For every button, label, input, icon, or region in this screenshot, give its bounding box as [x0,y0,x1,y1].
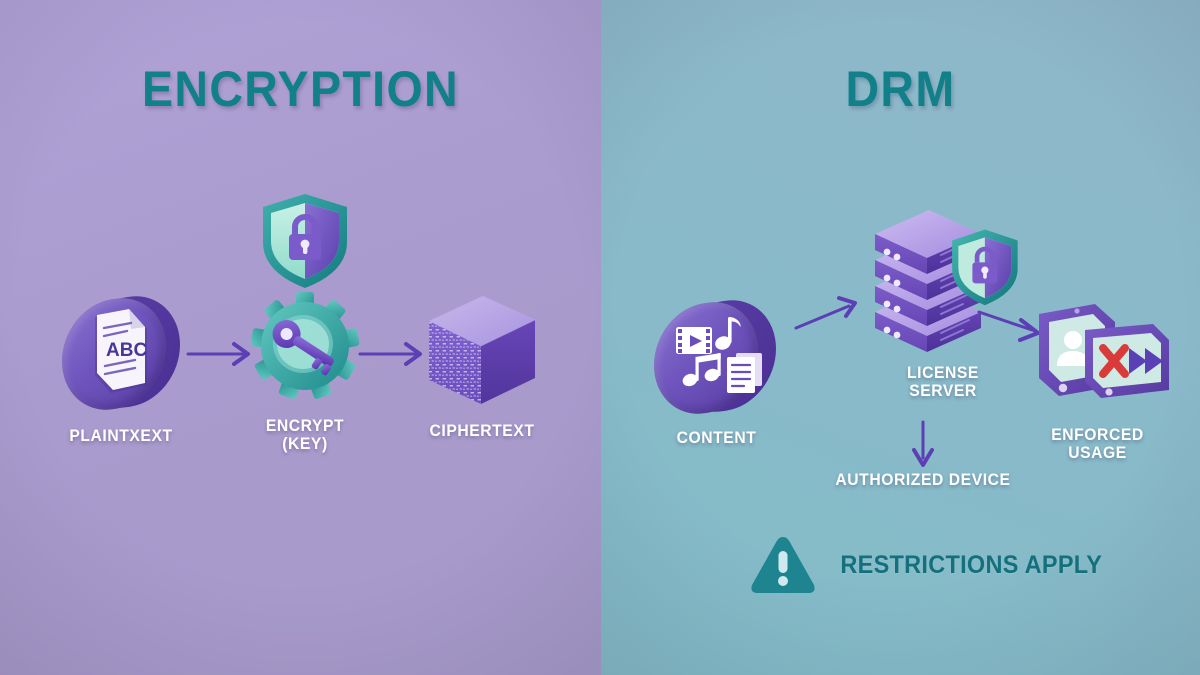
node-authorized-device: AUTHORIZED DEVICE [813,471,1033,489]
document-sheet-icon: ABC [62,293,180,411]
node-encrypt: ENCRYPT (KEY) [243,290,367,454]
encrypted-cube-icon [407,286,557,416]
node-enforced-usage-label: ENFORCED USAGE [1024,426,1171,463]
document-abc-disc-icon: ABC [62,293,180,411]
panel-encryption: ENCRYPTION [0,0,601,675]
screen-restricted-icon [1085,324,1169,398]
node-authorized-device-label: AUTHORIZED DEVICE [819,471,1028,489]
infographic-canvas: ENCRYPTION [0,0,1200,675]
node-enforced-usage: ENFORCED USAGE [1020,300,1175,463]
node-content-label: CONTENT [657,429,776,447]
shield-lock-icon [251,186,359,294]
document-abc-text: ABC [106,340,147,361]
shield-lock-badge [251,186,359,299]
node-content: CONTENT [654,297,779,447]
node-license-server-label: LICENSE SERVER [858,364,1029,401]
media-content-disc-icon [654,297,779,415]
node-ciphertext-label: CIPHERTEXT [411,422,554,440]
node-plaintext: ABC PLAINTXEXT [62,293,180,445]
music-notes-icon [681,353,721,388]
warning-triangle-icon [748,533,818,597]
node-ciphertext: CIPHERTEXT [407,286,557,440]
document-stack-icon [727,353,762,393]
restrictions-warning: RESTRICTIONS APPLY [748,533,1111,597]
arrow-license-server-to-authorized-device [901,420,945,474]
devices-restricted-icon [1023,300,1178,418]
music-note-icon [713,317,740,352]
film-strip-icon [676,327,712,354]
restrictions-warning-text: RESTRICTIONS APPLY [840,551,1102,580]
panel-title-encryption: ENCRYPTION [21,60,580,118]
gear-key-icon [243,290,367,406]
node-encrypt-label: ENCRYPT (KEY) [246,417,364,454]
node-plaintext-label: PLAINTXEXT [65,427,177,445]
panel-title-drm: DRM [622,60,1179,118]
